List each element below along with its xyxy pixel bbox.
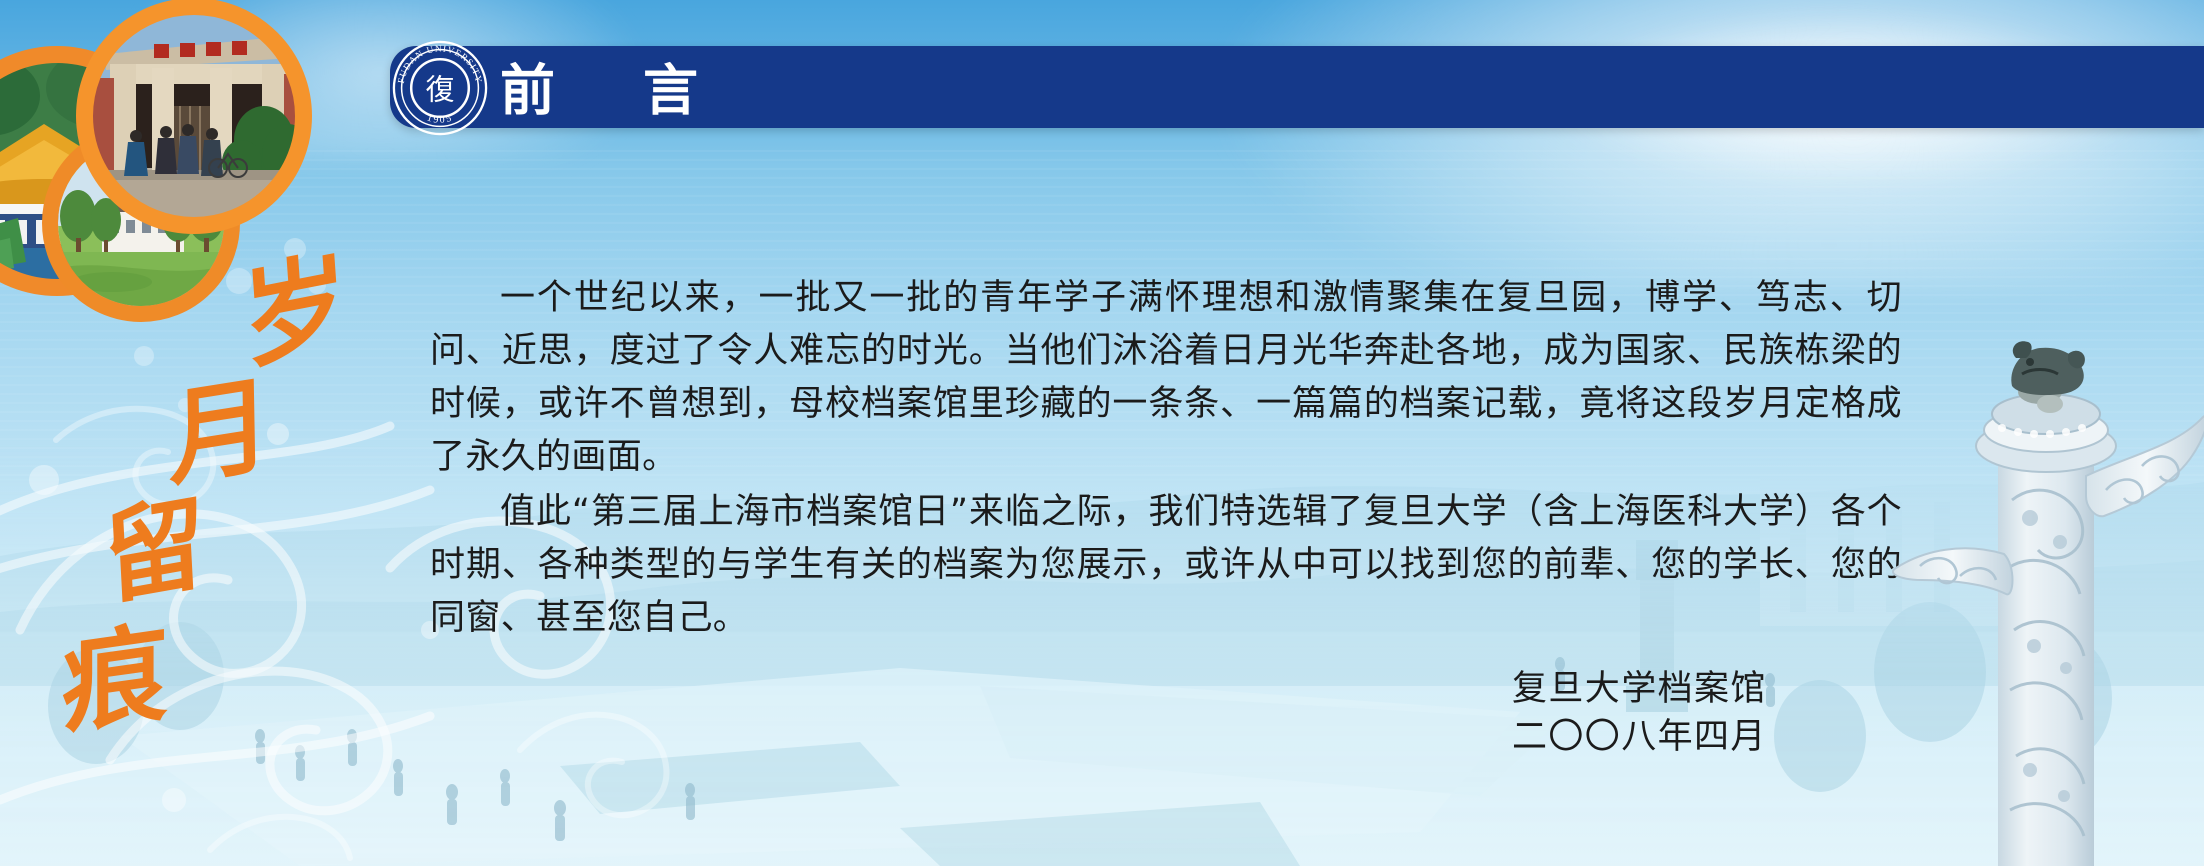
fudan-university-seal-icon: FUDAN UNIVERSITY 1905 復 <box>392 40 488 136</box>
signature-date: 二〇〇八年四月 <box>1512 713 1767 761</box>
calligraphy-char-3: 留 <box>102 491 208 611</box>
svg-text:1905: 1905 <box>425 112 454 125</box>
title-banner: 前 言 <box>390 46 2204 128</box>
svg-text:復: 復 <box>426 73 455 107</box>
signature-block: 复旦大学档案馆 二〇〇八年四月 <box>1512 665 1767 761</box>
calligraphy-char-2: 月 <box>168 371 273 492</box>
bubble-2 <box>134 346 154 366</box>
huabiao-pillar <box>1890 250 2204 866</box>
calligraphy-char-1: 岁 <box>239 247 353 376</box>
paragraph-1: 一个世纪以来，一批又一批的青年学子满怀理想和激情聚集在复旦园，博学、笃志、切问、… <box>430 272 1902 484</box>
signature-organization: 复旦大学档案馆 <box>1512 665 1767 713</box>
paragraph-2: 值此“第三届上海市档案馆日”来临之际，我们特选辑了复旦大学（含上海医科大学）各个… <box>430 486 1902 645</box>
page-title: 前 言 <box>500 45 715 125</box>
preface-body: 一个世纪以来，一批又一批的青年学子满怀理想和激情聚集在复旦园，博学、笃志、切问、… <box>430 272 1902 645</box>
poster-root: 岁 月 留 痕 前 言 FUDAN UNIVERSITY 1905 復 一个世纪… <box>0 0 2204 866</box>
campus-gate-photo-ring <box>76 0 312 234</box>
calligraphy-char-4: 痕 <box>63 618 168 740</box>
